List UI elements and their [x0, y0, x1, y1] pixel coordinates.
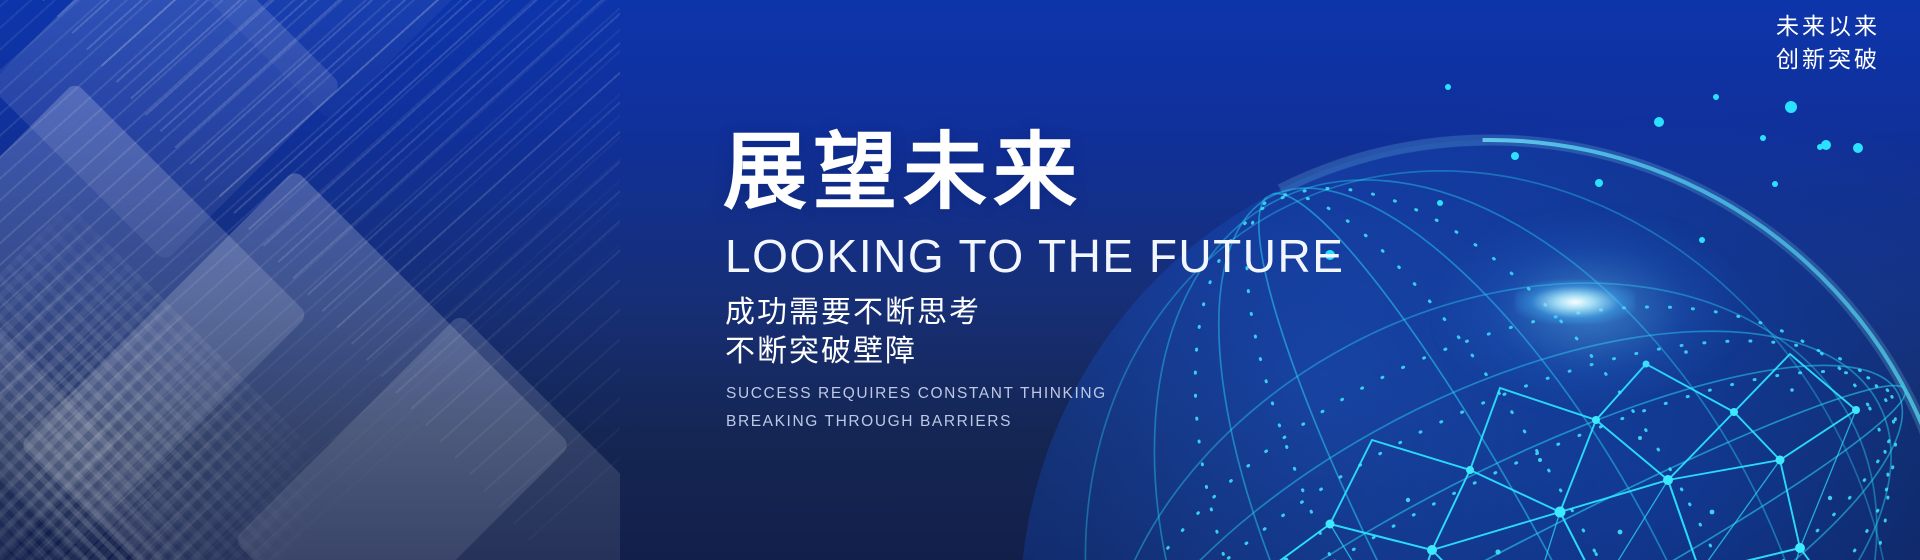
subtitle-en-line-2: BREAKING THROUGH BARRIERS [726, 408, 1483, 435]
headline-block: 展望未来 LOOKING TO THE FUTURE 成功需要不断思考 不断突破… [723, 128, 1483, 435]
diagonal-lines-group-secondary [0, 0, 620, 560]
corner-slogan-line-1: 未来以来 [1776, 10, 1880, 43]
floating-dot [1760, 135, 1766, 141]
rotated-square-shape [189, 0, 472, 121]
left-geometric-decoration [0, 0, 620, 560]
floating-dot [1511, 152, 1519, 160]
dot-grid-pattern [0, 204, 366, 560]
floating-dot [1699, 237, 1705, 243]
diagonal-lines-group-primary [0, 0, 620, 548]
globe-glow-highlight [1515, 280, 1635, 324]
floating-dot [1654, 117, 1664, 127]
page-title-en: LOOKING TO THE FUTURE [725, 231, 1483, 282]
rotated-square-shape [0, 82, 308, 549]
floating-dot [1821, 140, 1831, 150]
floating-dot [1595, 179, 1603, 187]
rotated-square-shape [0, 0, 342, 262]
floating-dot [1785, 101, 1797, 113]
corner-slogan: 未来以来 创新突破 [1776, 10, 1880, 75]
dot-grid-pattern [0, 362, 288, 560]
corner-slogan-line-2: 创新突破 [1776, 43, 1880, 76]
rotated-square-shape [19, 169, 571, 560]
subtitle-en-line-1: SUCCESS REQUIRES CONSTANT THINKING [726, 380, 1483, 407]
floating-dot [1853, 143, 1863, 153]
subtitle-cn-line-2: 不断突破壁障 [725, 331, 1483, 372]
page-title-cn: 展望未来 [723, 128, 1483, 217]
banner-root: 展望未来 LOOKING TO THE FUTURE 成功需要不断思考 不断突破… [0, 0, 1920, 560]
floating-dot [1772, 181, 1778, 187]
floating-dot [1445, 84, 1451, 90]
globe-glow-halo [1440, 215, 1740, 405]
floating-dot [1713, 94, 1719, 100]
rotated-square-shape [0, 282, 118, 560]
subtitle-cn-line-1: 成功需要不断思考 [725, 292, 1483, 333]
rotated-square-shape [234, 314, 620, 560]
